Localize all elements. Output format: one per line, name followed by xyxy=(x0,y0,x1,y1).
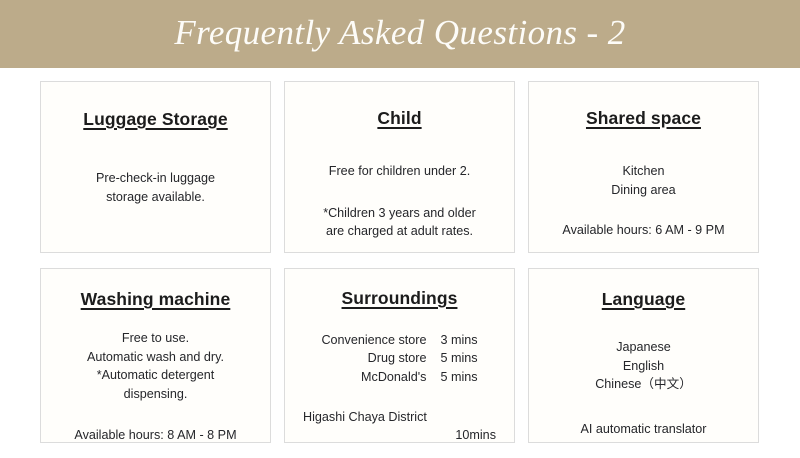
card-line: Dining area xyxy=(611,181,675,200)
table-row: Drug store 5 mins xyxy=(321,349,477,367)
card-line: Automatic wash and dry. xyxy=(87,348,224,367)
faq-card-washing-machine: Washing machine Free to use. Automatic w… xyxy=(40,268,271,443)
card-body-district: Higashi Chaya District 10mins xyxy=(285,408,514,443)
card-line: Free for children under 2. xyxy=(329,162,470,181)
card-line: Japanese xyxy=(595,338,692,357)
card-body-primary: Japanese English Chinese（中文） xyxy=(595,338,692,394)
card-line: Available hours: 6 AM - 9 PM xyxy=(562,221,724,240)
faq-card-shared-space: Shared space Kitchen Dining area Availab… xyxy=(528,81,759,253)
card-title: Surroundings xyxy=(342,288,458,309)
card-line: Kitchen xyxy=(611,162,675,181)
place-label: Drug store xyxy=(321,349,440,367)
card-body-hours: Available hours: 8 AM - 8 PM xyxy=(74,426,236,444)
walk-time: 5 mins xyxy=(440,349,477,367)
card-line: *Children 3 years and older xyxy=(323,204,476,223)
card-line: AI automatic translator xyxy=(581,420,707,439)
card-body-primary: Free for children under 2. xyxy=(329,162,470,181)
card-line: Free to use. xyxy=(87,329,224,348)
district-label: Higashi Chaya District xyxy=(303,408,496,427)
walk-time: 5 mins xyxy=(440,368,477,386)
card-line: Chinese（中文） xyxy=(595,375,692,394)
card-line: English xyxy=(595,357,692,376)
surroundings-table: Convenience store 3 mins Drug store 5 mi… xyxy=(321,331,477,386)
card-line: Pre-check-in luggage xyxy=(96,169,215,188)
faq-card-surroundings: Surroundings Convenience store 3 mins Dr… xyxy=(284,268,515,443)
card-title: Language xyxy=(602,289,685,310)
card-line: *Automatic detergent xyxy=(87,366,224,385)
card-title: Child xyxy=(377,108,421,129)
header-band: Frequently Asked Questions - 2 xyxy=(0,0,800,68)
card-body-primary: Kitchen Dining area xyxy=(611,162,675,199)
card-line: Available hours: 8 AM - 8 PM xyxy=(74,426,236,444)
card-title: Washing machine xyxy=(81,289,231,310)
faq-card-luggage-storage: Luggage Storage Pre-check-in luggage sto… xyxy=(40,81,271,253)
surroundings-table-wrap: Convenience store 3 mins Drug store 5 mi… xyxy=(321,331,477,386)
card-body-hours: Available hours: 6 AM - 9 PM xyxy=(562,221,724,240)
table-row: Convenience store 3 mins xyxy=(321,331,477,349)
card-line: storage available. xyxy=(96,188,215,207)
faq-card-grid: Luggage Storage Pre-check-in luggage sto… xyxy=(40,81,760,443)
card-line: dispensing. xyxy=(87,385,224,404)
card-line: are charged at adult rates. xyxy=(323,222,476,241)
place-label: Convenience store xyxy=(321,331,440,349)
card-body-primary: Pre-check-in luggage storage available. xyxy=(96,169,215,206)
card-body-note: *Children 3 years and older are charged … xyxy=(323,204,476,241)
card-title: Shared space xyxy=(586,108,701,129)
walk-time: 3 mins xyxy=(440,331,477,349)
page-title: Frequently Asked Questions - 2 xyxy=(174,15,625,53)
district-time: 10mins xyxy=(303,426,496,443)
place-label: McDonald's xyxy=(321,368,440,386)
card-body-primary: Free to use. Automatic wash and dry. *Au… xyxy=(87,329,224,404)
table-row: McDonald's 5 mins xyxy=(321,368,477,386)
faq-card-language: Language Japanese English Chinese（中文） AI… xyxy=(528,268,759,443)
card-body-note: AI automatic translator xyxy=(581,420,707,439)
faq-card-child: Child Free for children under 2. *Childr… xyxy=(284,81,515,253)
card-title: Luggage Storage xyxy=(83,109,227,130)
